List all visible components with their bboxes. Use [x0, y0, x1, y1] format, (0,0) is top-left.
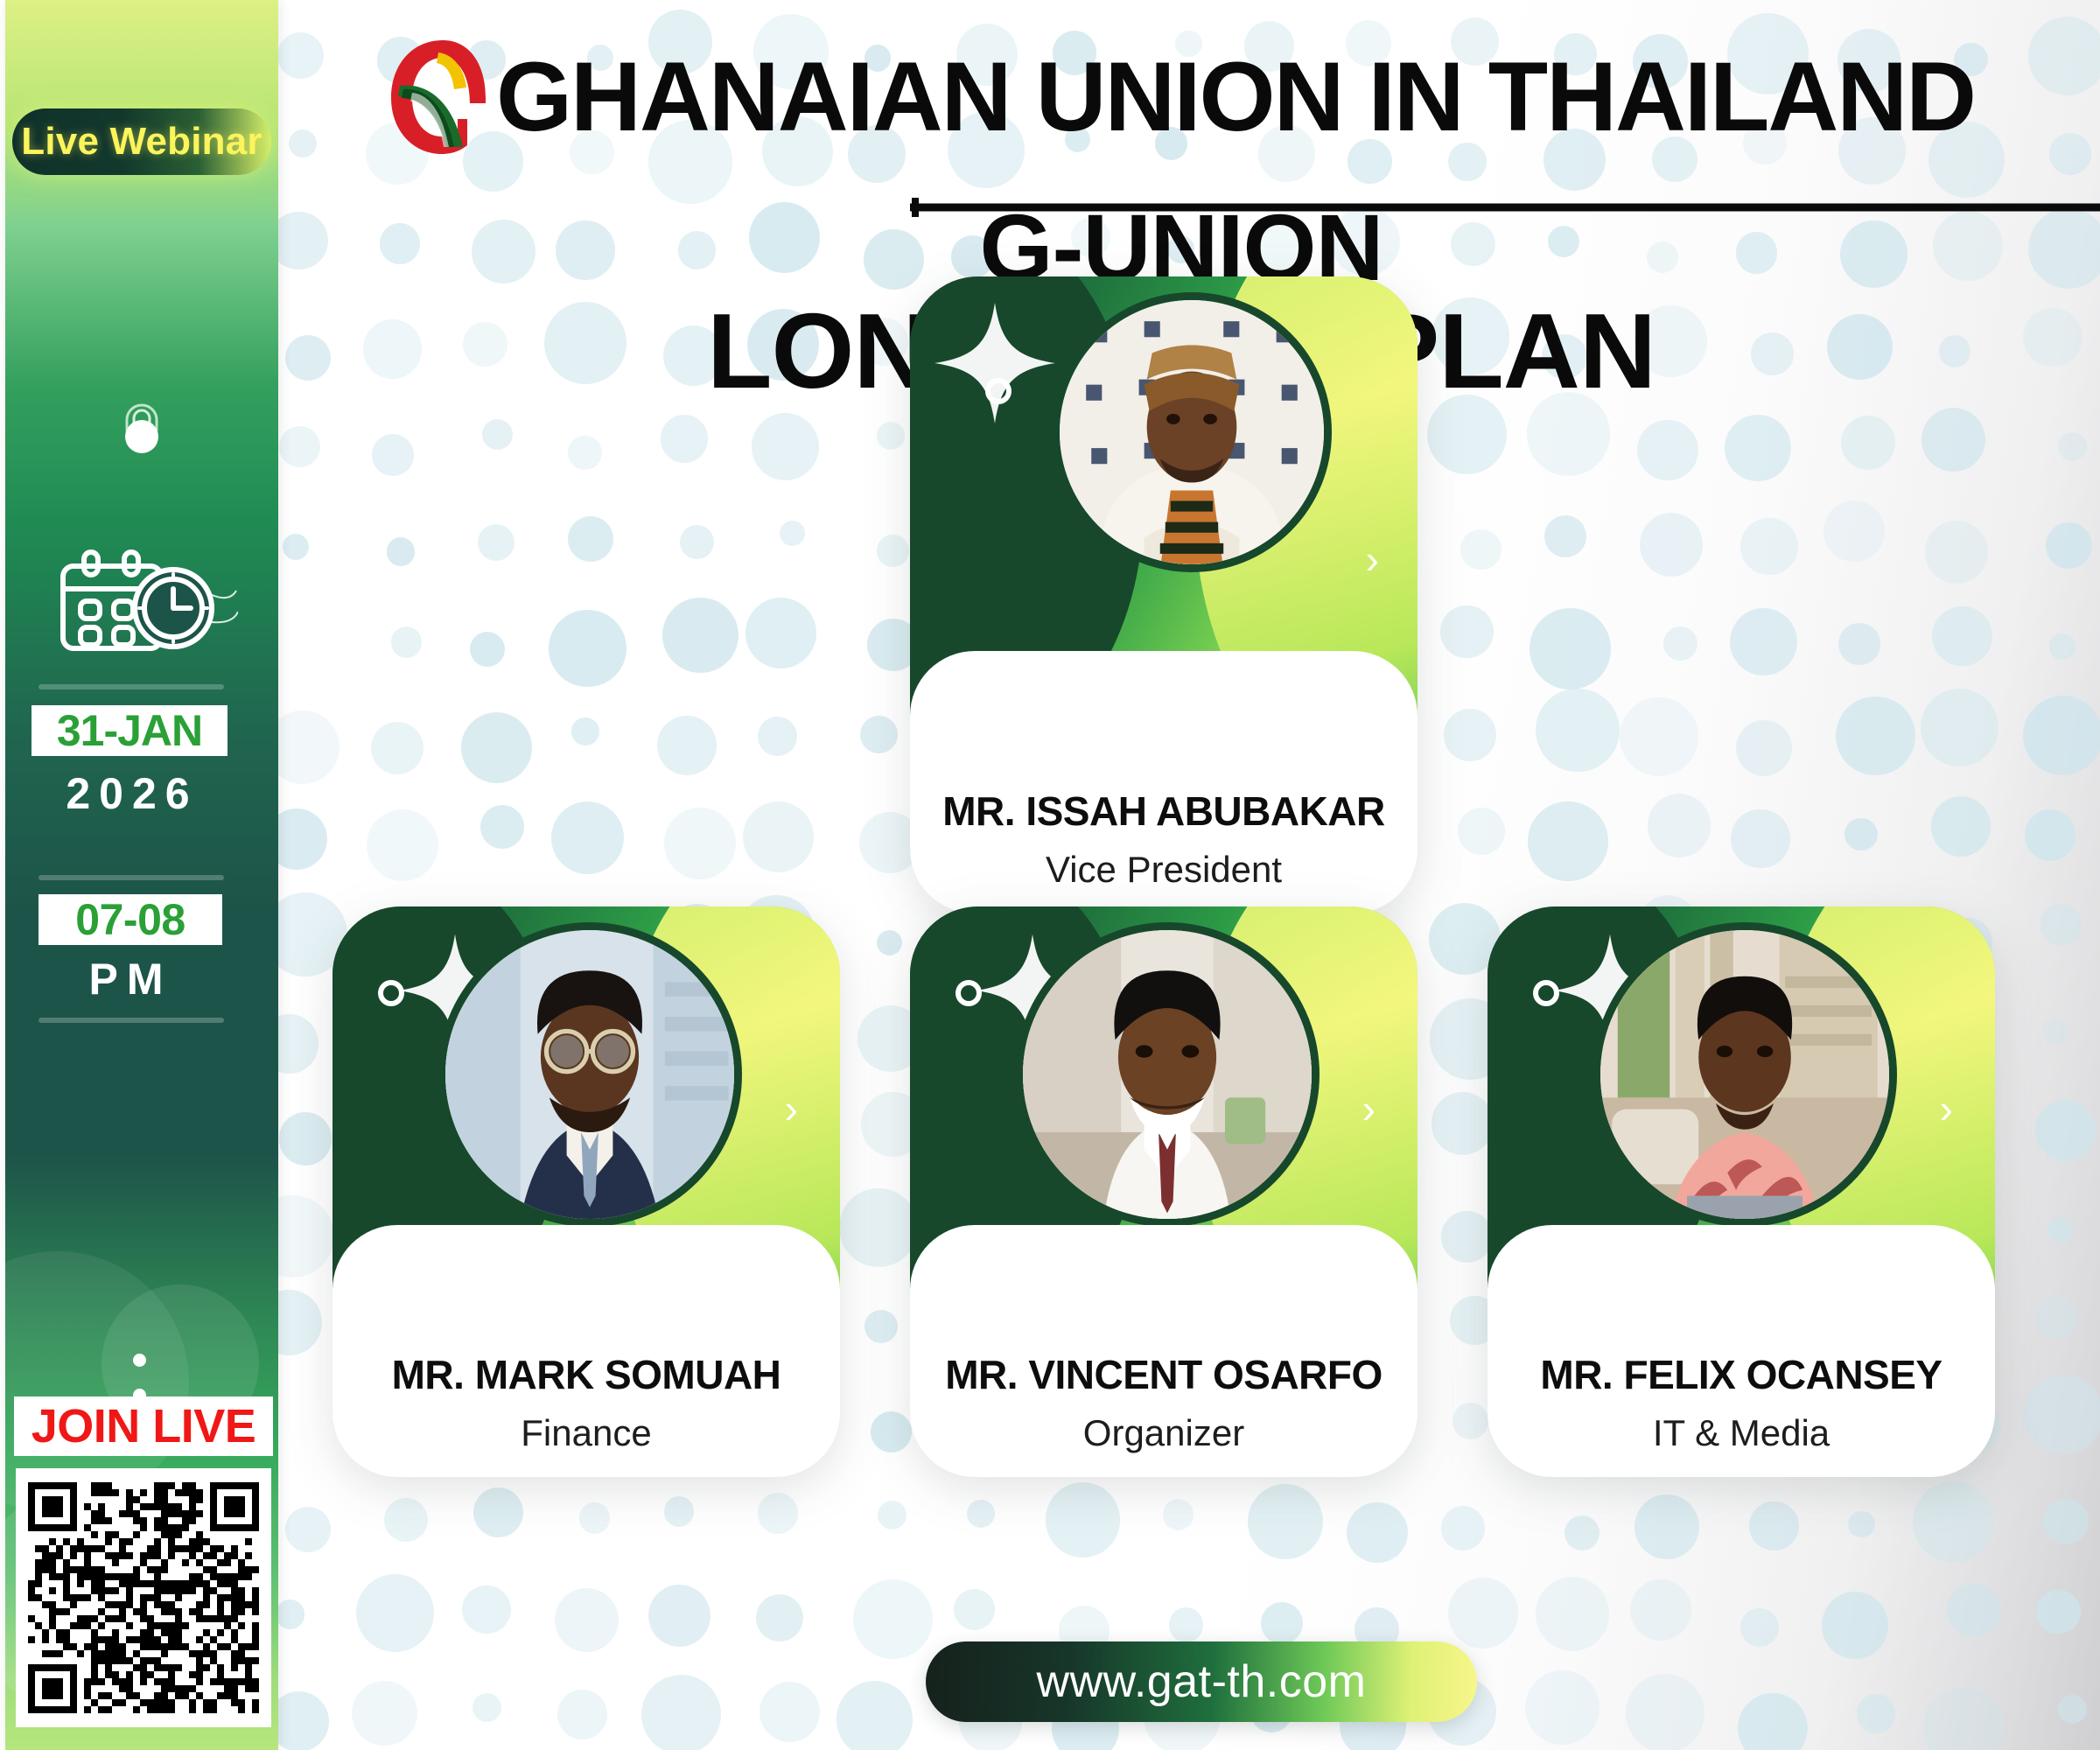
- background-dot: [549, 610, 626, 688]
- organization-title-row: GHANAIAN UNION IN THAILAND: [318, 31, 2033, 163]
- background-dot: [1046, 1482, 1120, 1557]
- background-dot: [1725, 415, 1791, 481]
- ring-decor-icon: [955, 980, 982, 1006]
- background-dot: [384, 1498, 429, 1543]
- background-dot: [1731, 809, 1790, 869]
- event-date-value: 31-JAN: [57, 705, 202, 756]
- background-dot: [1452, 1403, 1489, 1439]
- background-dot: [470, 632, 505, 667]
- speaker-card[interactable]: ›: [910, 987, 1417, 1477]
- background-dot: [756, 1594, 804, 1642]
- background-dot: [871, 1411, 912, 1452]
- speaker-photo: [1015, 922, 1319, 1227]
- ring-decor-icon: [1533, 980, 1559, 1006]
- background-dot: [2047, 1217, 2073, 1242]
- background-dot: [1749, 1501, 1799, 1551]
- ghana-union-logo-icon: [377, 31, 508, 163]
- background-dot: [1460, 529, 1501, 570]
- background-dot: [568, 516, 613, 562]
- background-dot: [276, 1599, 305, 1629]
- background-dot: [387, 537, 415, 565]
- join-live-label: JOIN LIVE: [31, 1399, 256, 1453]
- background-dot: [279, 1112, 332, 1165]
- background-dot: [662, 598, 738, 673]
- background-dot: [2035, 1100, 2096, 1161]
- background-dot: [1947, 1583, 2001, 1637]
- background-dot: [1163, 1499, 1194, 1530]
- background-dot: [1740, 518, 1797, 575]
- background-dot: [1444, 709, 1496, 761]
- background-dot: [1536, 689, 1620, 773]
- background-dot: [555, 1588, 619, 1652]
- background-dot: [391, 626, 423, 658]
- background-dot: [1648, 794, 1711, 857]
- background-dot: [571, 717, 598, 745]
- speaker-photo-issah-abubakar: [1060, 300, 1324, 564]
- event-year-value: 2026: [66, 768, 198, 819]
- organization-title: GHANAIAN UNION IN THAILAND: [496, 48, 1975, 146]
- speaker-card-panel: MR. VINCENT OSARFO Organizer: [910, 1225, 1417, 1477]
- background-dot: [967, 1500, 995, 1528]
- ring-decor-icon: [985, 378, 1011, 404]
- background-dot: [1848, 1511, 1875, 1538]
- speaker-photo: [437, 922, 742, 1227]
- chevron-right-icon: ›: [785, 1088, 798, 1129]
- background-dot: [1836, 696, 1914, 775]
- background-dot: [1663, 626, 1698, 661]
- background-dot: [648, 1585, 710, 1647]
- background-dot: [1931, 796, 1991, 856]
- background-dot: [283, 534, 309, 560]
- background-dot: [664, 808, 735, 878]
- background-dot: [2023, 696, 2100, 775]
- background-dot: [1923, 1687, 2005, 1750]
- background-dot: [1630, 1579, 1691, 1641]
- event-time-chip: 07-08: [38, 894, 222, 945]
- speaker-name: MR. FELIX OCANSEY: [1540, 1351, 1942, 1398]
- background-dot: [1441, 1506, 1486, 1550]
- background-dot: [2036, 1590, 2081, 1634]
- speaker-role: Vice President: [1046, 849, 1282, 891]
- background-dot: [1925, 521, 1988, 584]
- speaker-name: MR. VINCENT OSARFO: [945, 1351, 1382, 1398]
- chevron-right-icon: ›: [1362, 1088, 1375, 1129]
- speaker-photo: [1592, 922, 1897, 1227]
- background-dot: [853, 1579, 933, 1659]
- event-meridiem: PM: [38, 954, 222, 1004]
- background-dot: [1637, 420, 1697, 480]
- speaker-card-panel: MR. MARK SOMUAH Finance: [332, 1225, 840, 1477]
- background-dot: [568, 436, 602, 470]
- qr-code-icon[interactable]: [28, 1480, 259, 1715]
- background-dot: [758, 717, 797, 756]
- website-url: www.gat-th.com: [1037, 1655, 1367, 1708]
- background-dot: [2040, 904, 2082, 945]
- speaker-role: Organizer: [1083, 1412, 1244, 1454]
- event-info-sidebar: Live Webinar: [5, 0, 278, 1750]
- sidebar-divider-top: [38, 684, 224, 689]
- chevron-right-icon: ›: [1366, 539, 1379, 579]
- background-dot: [1921, 408, 1985, 472]
- ring-decor-icon: [378, 980, 404, 1006]
- chevron-right-icon: ›: [1940, 1088, 1953, 1129]
- background-dot: [1634, 1494, 1699, 1559]
- background-dot: [279, 426, 320, 467]
- background-dot: [743, 801, 814, 872]
- background-dot: [482, 419, 513, 450]
- sidebar-divider-bottom: [38, 1018, 224, 1023]
- background-dot: [1458, 808, 1504, 854]
- background-dot: [752, 413, 819, 480]
- background-dot: [877, 535, 909, 567]
- speaker-card[interactable]: ›: [1487, 987, 1995, 1477]
- webinar-poster: Live Webinar: [0, 0, 2100, 1750]
- background-dot: [1822, 1592, 1888, 1658]
- background-dot: [680, 525, 714, 559]
- background-dot: [1564, 1515, 1599, 1550]
- speaker-photo: [1052, 292, 1332, 572]
- background-dot: [352, 1681, 416, 1746]
- background-dot: [864, 1310, 898, 1343]
- background-dot: [371, 722, 423, 774]
- background-dot: [356, 1574, 434, 1652]
- background-dot: [661, 415, 708, 462]
- background-dot: [285, 1507, 331, 1552]
- speaker-role: IT & Media: [1653, 1412, 1830, 1454]
- speaker-photo-felix-ocansey: [1600, 930, 1889, 1219]
- background-dot: [2058, 432, 2088, 462]
- background-dot: [877, 930, 903, 956]
- background-dot: [860, 716, 898, 753]
- background-dot: [462, 1585, 511, 1634]
- background-dot: [1736, 720, 1793, 777]
- background-dot: [478, 524, 514, 561]
- sidebar-bullet-dot: [133, 1354, 146, 1367]
- background-dot: [780, 521, 805, 546]
- background-dot: [759, 1682, 820, 1742]
- background-dot: [1448, 1578, 1518, 1648]
- background-dot: [1857, 1694, 1895, 1732]
- background-dot: [877, 422, 905, 450]
- background-dot: [2025, 809, 2075, 860]
- background-dot: [1921, 689, 1998, 766]
- background-dot: [1525, 1670, 1599, 1745]
- background-dot: [551, 801, 624, 874]
- background-dot: [1823, 500, 1885, 562]
- background-dot: [1528, 801, 1608, 882]
- background-dot: [1441, 1211, 1493, 1263]
- background-dot: [641, 1675, 721, 1750]
- speaker-photo-mark-somuah: [445, 930, 734, 1219]
- background-dot: [2035, 1296, 2078, 1339]
- speaker-card-panel: MR. FELIX OCANSEY IT & Media: [1487, 1225, 1995, 1477]
- background-dot: [1620, 697, 1698, 776]
- background-dot: [954, 1589, 995, 1630]
- speaker-card[interactable]: ›: [910, 423, 1417, 913]
- background-dot: [839, 1188, 918, 1267]
- background-dot: [2041, 1018, 2068, 1045]
- background-dot: [2058, 1695, 2087, 1724]
- background-dot: [745, 598, 816, 668]
- background-dot: [1626, 1674, 1704, 1750]
- background-dot: [372, 434, 414, 476]
- background-dot: [2049, 633, 2075, 659]
- background-dot: [557, 1690, 607, 1739]
- live-webinar-badge[interactable]: Live Webinar: [12, 108, 271, 175]
- background-dot: [657, 716, 717, 775]
- event-time-value: 07-08: [75, 894, 185, 945]
- background-dot: [277, 32, 325, 80]
- background-dot: [1529, 608, 1610, 689]
- background-dot: [2024, 1375, 2100, 1454]
- background-dot: [1740, 1608, 1779, 1647]
- background-dot: [664, 1496, 695, 1527]
- event-meridiem-value: PM: [89, 954, 172, 1004]
- background-dot: [461, 712, 532, 783]
- speaker-role: Finance: [521, 1412, 651, 1454]
- background-dot: [2046, 522, 2092, 569]
- speaker-name: MR. MARK SOMUAH: [392, 1351, 781, 1398]
- background-dot: [1932, 606, 1992, 667]
- background-dot: [758, 1493, 798, 1533]
- background-dot: [1536, 1577, 1610, 1651]
- background-dot: [1544, 515, 1586, 557]
- speaker-card[interactable]: ›: [332, 987, 840, 1477]
- background-dot: [1913, 1481, 1994, 1563]
- background-dot: [480, 805, 524, 849]
- speaker-photo-vincent-osarfo: [1023, 930, 1312, 1219]
- background-dot: [1841, 416, 1895, 470]
- background-dot: [367, 809, 438, 881]
- background-dot: [472, 1693, 501, 1722]
- speaker-card-panel: MR. ISSAH ABUBAKAR Vice President: [910, 651, 1417, 913]
- microphone-icon: [115, 398, 168, 456]
- background-dot: [1347, 1502, 1407, 1563]
- speaker-name: MR. ISSAH ABUBAKAR: [942, 787, 1385, 835]
- background-dot: [1431, 1092, 1494, 1154]
- join-live-button[interactable]: JOIN LIVE: [14, 1396, 273, 1456]
- background-dot: [1844, 818, 1877, 850]
- event-date-chip: 31-JAN: [31, 705, 227, 756]
- background-dot: [473, 1487, 523, 1537]
- sidebar-divider-middle: [38, 875, 224, 880]
- background-dot: [1248, 1484, 1323, 1559]
- background-dot: [1169, 1607, 1204, 1642]
- background-dot: [878, 1501, 906, 1529]
- calendar-clock-icon: [54, 547, 238, 661]
- live-webinar-badge-label: Live Webinar: [21, 120, 262, 164]
- background-dot: [2043, 1499, 2089, 1544]
- background-dot: [1261, 1602, 1303, 1644]
- background-dot: [836, 1681, 913, 1750]
- qr-code-frame[interactable]: [16, 1468, 271, 1727]
- background-dot: [579, 1502, 610, 1533]
- background-dot: [289, 129, 317, 157]
- background-dot: [1730, 608, 1797, 675]
- background-dot: [1838, 623, 1880, 665]
- background-dot: [1738, 1693, 1808, 1750]
- event-year: 2026: [31, 766, 233, 821]
- background-dot: [1440, 605, 1494, 659]
- background-dot: [1640, 513, 1703, 576]
- website-pill[interactable]: www.gat-th.com: [926, 1641, 1477, 1722]
- background-dot: [269, 212, 328, 270]
